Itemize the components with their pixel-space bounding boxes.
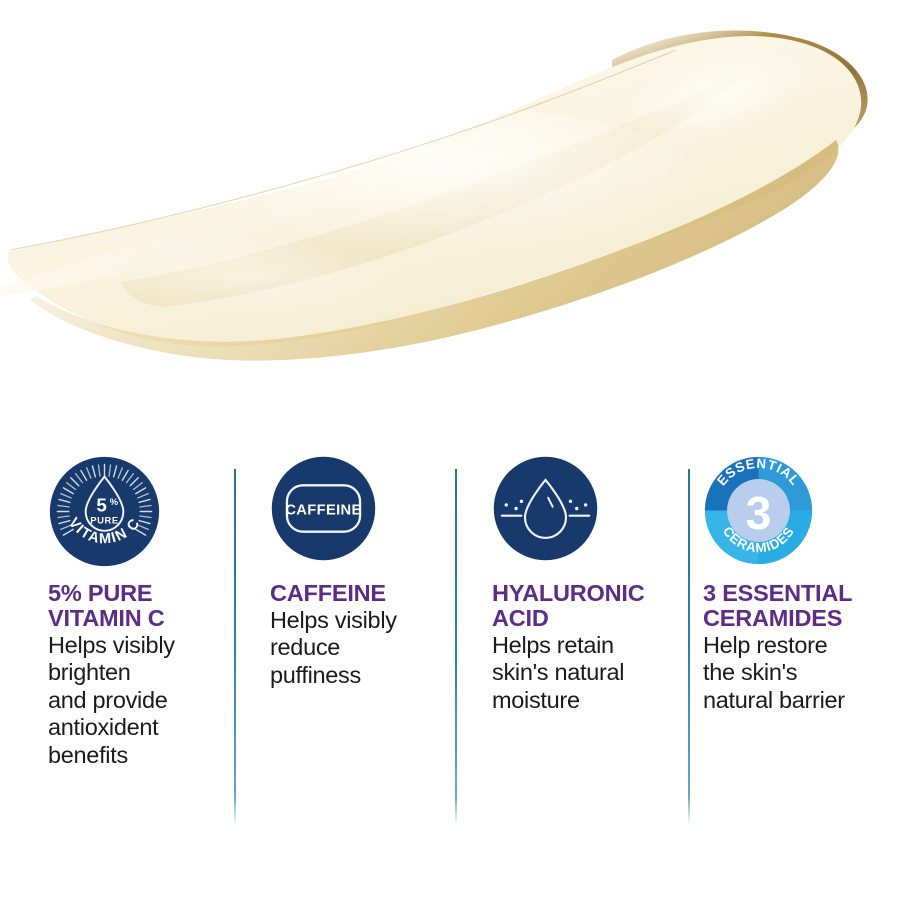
benefit-heading: 5% PURE VITAMIN C [48,581,224,631]
cream-swatch-image [0,0,900,440]
badge-container-ceramides: 3 ESSENTIAL CERAMIDES [703,455,893,579]
cream-swatch-illustration [0,0,900,440]
infographic-page: 5 % PURE VITAMIN C 5% PURE VITAMIN C Hel… [0,0,900,900]
column-divider-1 [234,469,236,825]
badge-container-vitamin-c: 5 % PURE VITAMIN C [48,455,224,579]
column-divider-2 [455,469,457,825]
benefit-heading: HYALURONIC ACID [492,581,678,631]
badge-container-caffeine: CAFFEINE [270,455,446,579]
hyaluronic-acid-badge-icon [492,455,599,562]
badge-container-hyaluronic-acid [492,455,678,579]
benefit-column-ceramides: 3 ESSENTIAL CERAMIDES 3 ESSENTIAL CERAMI… [703,455,893,714]
benefit-column-hyaluronic-acid: HYALURONIC ACID Helps retain skin's natu… [492,455,678,714]
benefit-heading: CAFFEINE [270,581,446,606]
droplet-pure-text: PURE [90,515,118,526]
benefit-description: Help restore the skin's natural barrier [703,632,893,714]
benefit-description: Helps visibly brighten and provide antio… [48,632,224,769]
column-divider-3 [688,469,690,825]
benefit-description: Helps retain skin's natural moisture [492,632,678,714]
droplet-percent-symbol: % [110,496,119,507]
droplet-percent-text: 5 [96,495,106,516]
caffeine-badge-icon: CAFFEINE [270,455,377,562]
benefits-section: 5 % PURE VITAMIN C 5% PURE VITAMIN C Hel… [0,455,900,855]
caffeine-label-text: CAFFEINE [285,502,361,518]
vitamin-c-badge-icon: 5 % PURE VITAMIN C [48,455,161,568]
ceramides-badge-icon: 3 ESSENTIAL CERAMIDES [703,455,814,566]
benefit-description: Helps visibly reduce puffiness [270,607,446,689]
benefit-heading: 3 ESSENTIAL CERAMIDES [703,581,893,631]
benefit-column-caffeine: CAFFEINE CAFFEINE Helps visibly reduce p… [270,455,446,689]
ceramides-count-text: 3 [746,487,772,539]
benefit-column-vitamin-c: 5 % PURE VITAMIN C 5% PURE VITAMIN C Hel… [48,455,224,769]
